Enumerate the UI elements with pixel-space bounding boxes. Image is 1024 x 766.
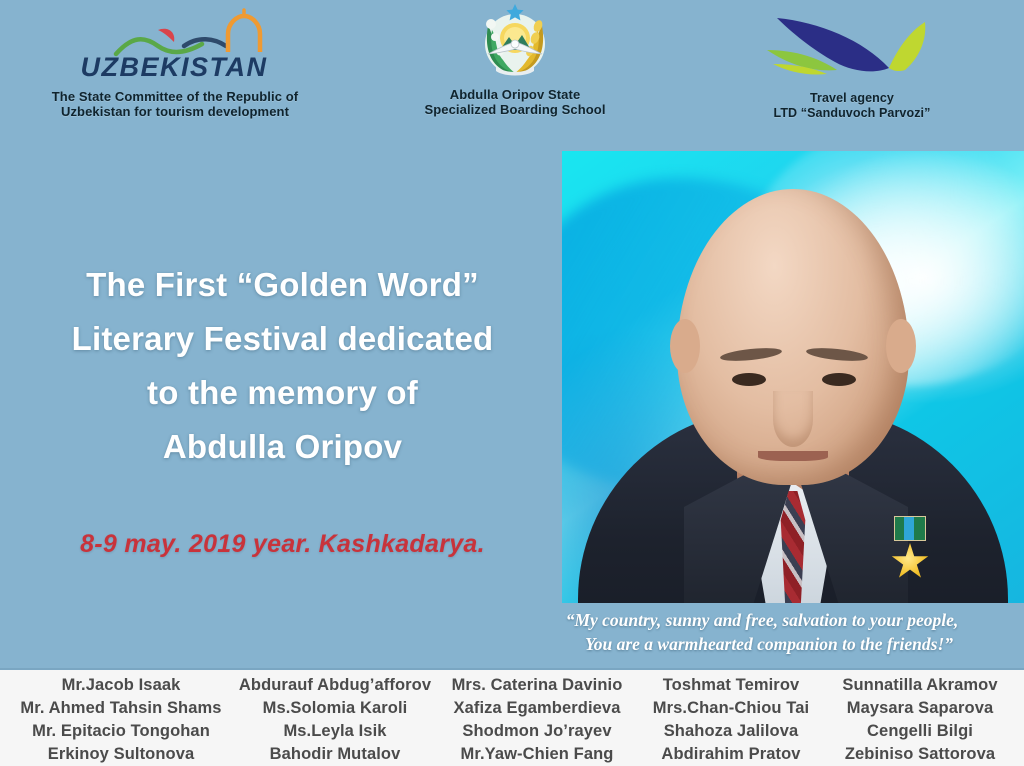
logo-caption-tourism: The State Committee of the Republic of U…	[52, 89, 298, 119]
participant-name: Abdurauf Abdug’afforov	[236, 676, 434, 695]
logo-caption-line1: Travel agency	[774, 91, 931, 106]
participant-name: Maysara Saparova	[822, 699, 1018, 718]
title-line-3: to the memory of	[10, 366, 555, 420]
participant-name: Ms.Leyla Isik	[236, 722, 434, 741]
logo-caption-school: Abdulla Oripov State Specialized Boardin…	[424, 87, 605, 117]
logo-state-emblem: Abdulla Oripov State Specialized Boardin…	[350, 0, 680, 117]
logo-caption-agency: Travel agency LTD “Sanduvoch Parvozi”	[774, 91, 931, 120]
participant-name: Mr. Epitacio Tongohan	[6, 722, 236, 741]
participant-name: Mrs.Chan-Chiou Tai	[640, 699, 822, 718]
participant-name: Sunnatilla Akramov	[822, 676, 1018, 695]
participants-row: Erkinoy Sultonova Bahodir Mutalov Mr.Yaw…	[0, 743, 1024, 766]
participants-row: Mr. Epitacio Tongohan Ms.Leyla Isik Shod…	[0, 720, 1024, 743]
portrait-eye-right	[822, 373, 856, 386]
participant-name: Cengelli Bilgi	[822, 722, 1018, 741]
title-line-2: Literary Festival dedicated	[10, 312, 555, 366]
portrait-nose	[773, 391, 813, 447]
participant-name: Abdirahim Pratov	[640, 745, 822, 764]
svg-text:UZBEKISTAN: UZBEKISTAN	[81, 52, 268, 80]
participant-name: Erkinoy Sultonova	[6, 745, 236, 764]
logo-caption-line2: Specialized Boarding School	[424, 102, 605, 117]
portrait-ear-right	[886, 319, 916, 373]
event-date-location: 8-9 may. 2019 year. Kashkadarya.	[10, 530, 555, 559]
logo-caption-line2: Uzbekistan for tourism development	[52, 104, 298, 119]
uzbekistan-state-emblem-icon	[478, 4, 552, 83]
participant-name: Mrs. Caterina Davinio	[434, 676, 640, 695]
poet-quote: “My country, sunny and free, salvation t…	[504, 608, 1020, 656]
logo-uzbekistan-tourism: UZBEKISTAN The State Committee of the Re…	[0, 0, 350, 119]
travel-agency-bird-logo-icon	[757, 6, 947, 87]
quote-line-1: “My country, sunny and free, salvation t…	[504, 608, 1020, 632]
portrait-ear-left	[670, 319, 700, 373]
participant-name: Bahodir Mutalov	[236, 745, 434, 764]
participant-name: Zebiniso Sattorova	[822, 745, 1018, 764]
portrait-photo-abdulla-oripov	[562, 151, 1024, 603]
title-line-4: Abdulla Oripov	[10, 420, 555, 474]
participants-row: Mr. Ahmed Tahsin Shams Ms.Solomia Karoli…	[0, 697, 1024, 720]
logo-caption-line1: The State Committee of the Republic of	[52, 89, 298, 104]
quote-line-2: You are a warmhearted companion to the f…	[504, 632, 1020, 656]
medal-ribbon-icon	[894, 516, 926, 541]
participant-name: Mr.Jacob Isaak	[6, 676, 236, 695]
participants-row: Mr.Jacob Isaak Abdurauf Abdug’afforov Mr…	[0, 674, 1024, 697]
participants-list: Mr.Jacob Isaak Abdurauf Abdug’afforov Mr…	[0, 668, 1024, 766]
participant-name: Xafiza Egamberdieva	[434, 699, 640, 718]
participant-name: Shahoza Jalilova	[640, 722, 822, 741]
uzbekistan-tourism-logo-icon: UZBEKISTAN	[80, 8, 270, 85]
portrait-eye-left	[732, 373, 766, 386]
festival-poster: UZBEKISTAN The State Committee of the Re…	[0, 0, 1024, 766]
logo-travel-agency: Travel agency LTD “Sanduvoch Parvozi”	[680, 0, 1024, 120]
participant-name: Shodmon Jo’rayev	[434, 722, 640, 741]
participant-name: Mr.Yaw-Chien Fang	[434, 745, 640, 764]
participant-name: Mr. Ahmed Tahsin Shams	[6, 699, 236, 718]
title-line-1: The First “Golden Word”	[10, 258, 555, 312]
participant-name: Ms.Solomia Karoli	[236, 699, 434, 718]
participant-name: Toshmat Temirov	[640, 676, 822, 695]
logo-caption-line2: LTD “Sanduvoch Parvozi”	[774, 106, 931, 121]
portrait-mouth	[758, 451, 828, 461]
poster-title: The First “Golden Word” Literary Festiva…	[10, 258, 555, 474]
logo-header: UZBEKISTAN The State Committee of the Re…	[0, 0, 1024, 130]
logo-caption-line1: Abdulla Oripov State	[424, 87, 605, 102]
